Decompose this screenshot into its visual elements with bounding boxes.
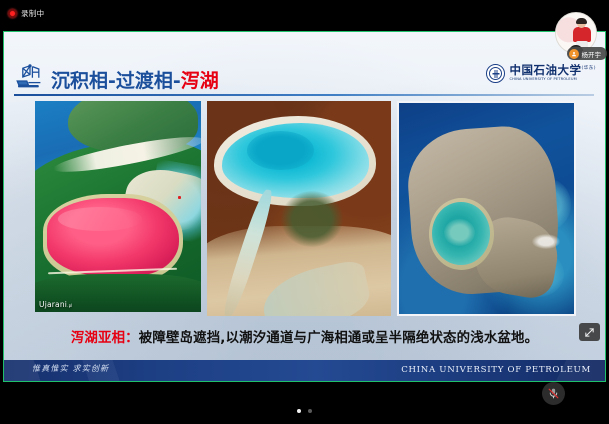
turquoise-lagoon-tidal-channel-photo <box>207 101 391 316</box>
avatar-hair <box>576 18 587 24</box>
expand-fullscreen-icon[interactable] <box>579 323 600 341</box>
photo2-scrub <box>281 191 344 247</box>
university-campus: (华东) <box>581 66 596 71</box>
university-names: 中国石油大学(华东) CHINA UNIVERSITY OF PETROLEUM <box>509 65 596 82</box>
island-enclosed-lagoon-photo <box>397 101 576 316</box>
photo1-marker-dot <box>178 196 181 199</box>
microphone-muted-icon[interactable] <box>542 382 565 405</box>
slide-caption: 泻湖亚相：被障壁岛遮挡,以潮汐通道与广海相通或呈半隔绝状态的浅水盆地。 <box>4 326 605 346</box>
user-icon <box>569 49 579 59</box>
title-main-text: 沉积相-过渡相- <box>51 70 181 92</box>
page-indicator-dots[interactable] <box>0 409 609 413</box>
page-title: 沉积相-过渡相-泻湖 <box>51 72 219 91</box>
title-divider <box>14 94 594 96</box>
recording-indicator: 录制中 <box>8 8 44 19</box>
meeting-screen-share-view: 录制中 杨开宇 <box>0 0 609 424</box>
page-dot-1[interactable] <box>297 409 301 413</box>
photo3-lagoon-water <box>432 202 490 265</box>
title-accent-text: 泻湖 <box>181 70 219 92</box>
university-name-cn: 中国石油大学(华东) <box>509 65 596 77</box>
slide-footer-banner: 惟真惟实 求实创新 CHINA UNIVERSITY OF PETROLEUM <box>4 360 605 381</box>
recording-label: 录制中 <box>21 8 44 19</box>
record-dot-icon <box>8 9 17 18</box>
pink-lake-hillier-photo: Ujarani.pl <box>35 101 201 312</box>
photo3-surf <box>532 234 560 249</box>
avatar-body <box>573 27 591 42</box>
caption-body: 被障壁岛遮挡,以潮汐通道与广海相通或呈半隔绝状态的浅水盆地。 <box>139 331 538 346</box>
presenter-name-tag: 杨开宇 <box>567 47 608 60</box>
university-name-en: CHINA UNIVERSITY OF PETROLEUM <box>509 78 596 82</box>
university-logo: 中国石油大学(华东) CHINA UNIVERSITY OF PETROLEUM <box>486 64 596 83</box>
presenter-name: 杨开宇 <box>582 49 602 59</box>
photo-row: Ujarani.pl <box>35 101 576 316</box>
caption-lead: 泻湖亚相： <box>71 331 139 346</box>
photo2-deep-water <box>247 131 313 170</box>
top-bar: 录制中 <box>0 0 609 30</box>
banner-university-en: CHINA UNIVERSITY OF PETROLEUM <box>401 365 591 375</box>
photo1-pink-lake <box>47 198 178 276</box>
oil-rig-icon <box>14 63 46 91</box>
bottom-bar <box>0 382 609 424</box>
university-seal-icon <box>486 64 505 83</box>
slide-title-row: 沉积相-过渡相-泻湖 <box>14 63 219 91</box>
page-dot-2[interactable] <box>308 409 312 413</box>
banner-motto-cn: 惟真惟实 求实创新 <box>32 363 109 374</box>
shared-slide-stage[interactable]: 沉积相-过渡相-泻湖 中国石油大学(华东) CHINA UNIVERSITY O… <box>3 31 606 382</box>
photo1-watermark: Ujarani.pl <box>39 300 73 309</box>
